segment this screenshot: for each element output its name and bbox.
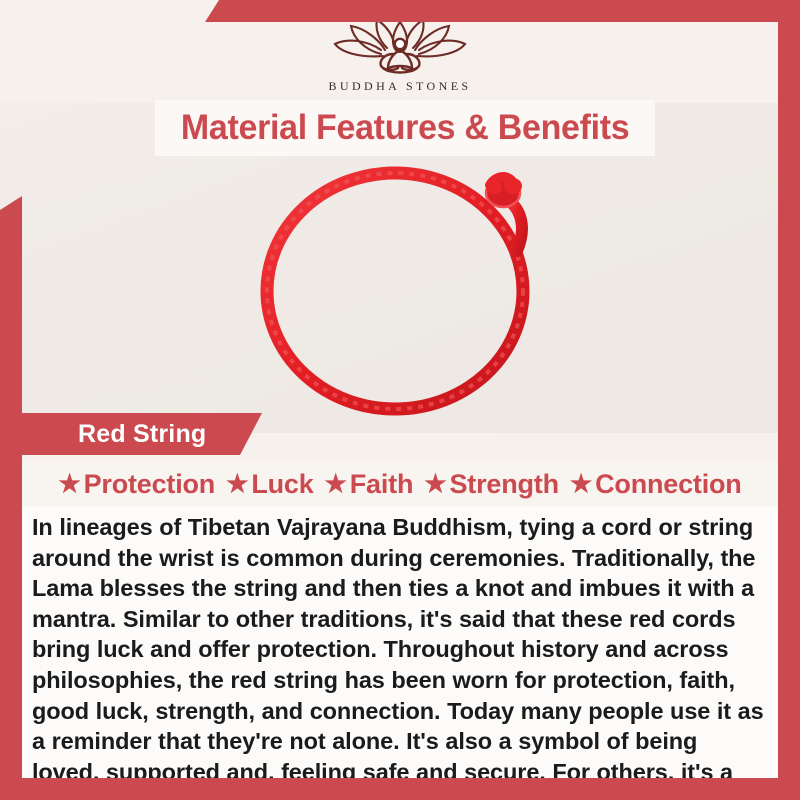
description-text: In lineages of Tibetan Vajrayana Buddhis… xyxy=(22,512,778,800)
benefit-luck: ★ Luck xyxy=(226,469,313,500)
frame-left-accent xyxy=(0,196,22,800)
lotus-meditation-icon xyxy=(325,16,475,78)
benefit-protection: ★ Protection xyxy=(58,469,215,500)
benefit-label: Strength xyxy=(449,469,558,500)
description-panel: In lineages of Tibetan Vajrayana Buddhis… xyxy=(22,506,778,778)
star-icon: ★ xyxy=(58,472,80,497)
benefit-connection: ★ Connection xyxy=(570,469,742,500)
benefit-label: Connection xyxy=(595,469,742,500)
benefit-label: Luck xyxy=(251,469,313,500)
page-title: Material Features & Benefits xyxy=(181,108,629,148)
star-icon: ★ xyxy=(226,472,248,497)
title-banner: Material Features & Benefits xyxy=(155,100,655,156)
frame-right-accent xyxy=(778,0,800,800)
star-icon: ★ xyxy=(424,472,446,497)
material-ribbon: Red String xyxy=(22,413,262,455)
material-label: Red String xyxy=(22,420,206,449)
star-icon: ★ xyxy=(325,472,347,497)
star-icon: ★ xyxy=(570,472,592,497)
benefit-faith: ★ Faith xyxy=(325,469,414,500)
benefits-row: ★ Protection ★ Luck ★ Faith ★ Strength ★… xyxy=(22,462,778,506)
brand-logo: BUDDHA STONES xyxy=(325,16,475,94)
red-string-bracelet-image xyxy=(245,163,565,423)
benefit-label: Protection xyxy=(84,469,216,500)
benefit-strength: ★ Strength xyxy=(424,469,559,500)
frame-top-accent xyxy=(205,0,800,22)
benefit-label: Faith xyxy=(350,469,414,500)
frame-bottom-accent xyxy=(0,778,800,800)
brand-name: BUDDHA STONES xyxy=(329,79,472,94)
product-infographic: BUDDHA STONES Material Features & Benefi… xyxy=(0,0,800,800)
